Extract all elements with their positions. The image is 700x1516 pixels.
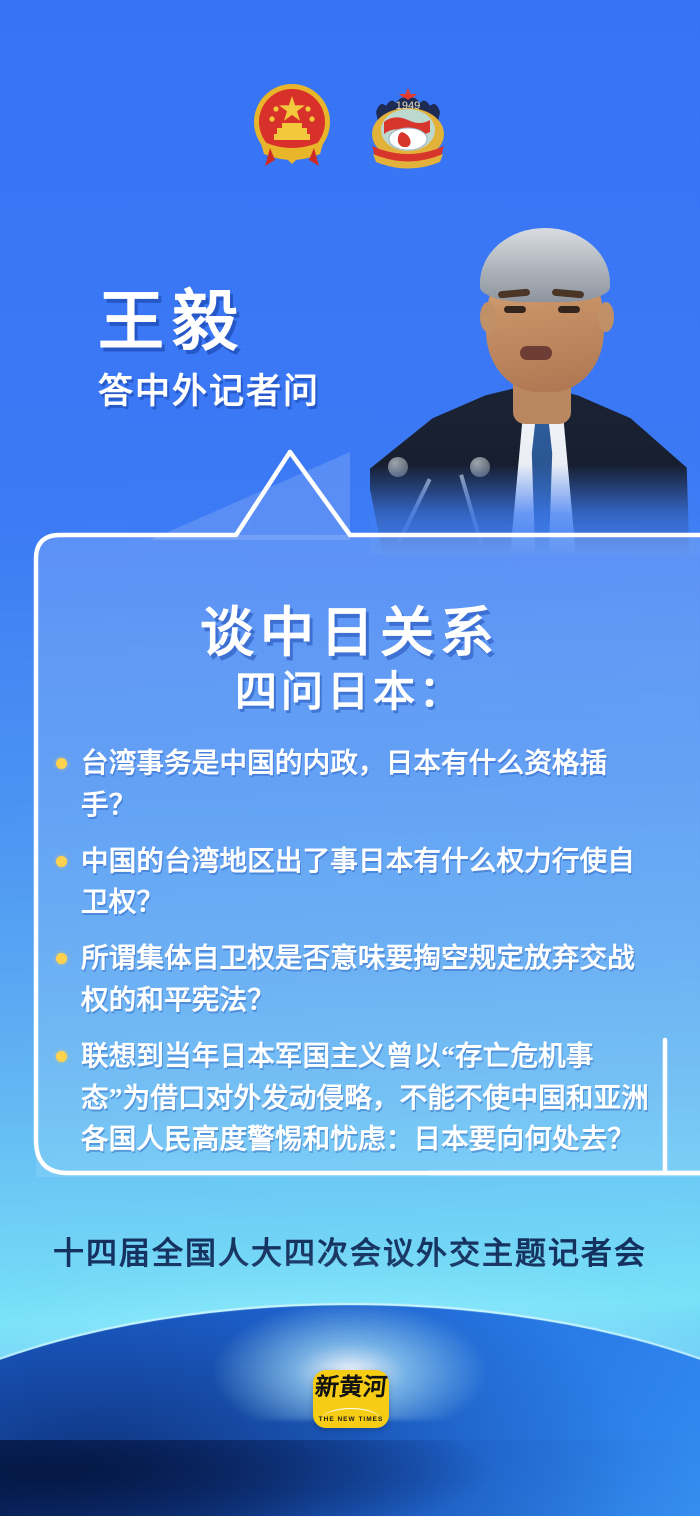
bullet-text: 所谓集体自卫权是否意味要掏空规定放弃交战权的和平宪法？ [81,937,656,1021]
headline-block: 王毅 答中外记者问 [98,288,398,414]
national-emblem-of-china-icon [246,78,338,170]
brand-logo[interactable]: 新黄河 THE NEW TIMES [313,1370,389,1428]
bullet-text: 中国的台湾地区出了事日本有什么权力行使自卫权？ [81,840,656,924]
portrait-eye-left [504,306,526,313]
bullet-dot-icon [56,758,67,769]
brand-logo-chinese: 新黄河 [314,1376,389,1400]
bullet-dot-icon [56,953,67,964]
list-item: 台湾事务是中国的内政，日本有什么资格插手？ [56,742,656,826]
emblem-row: 1949 [0,78,700,170]
portrait-ear-right [598,302,614,332]
portrait-mouth [520,346,552,360]
poster-root: 1949 王毅 答中外记者问 谈中日关系 四问日本： 台湾事务是中国的内政，日本… [0,0,700,1516]
speaker-name: 王毅 [98,288,398,357]
bullet-text: 台湾事务是中国的内政，日本有什么资格插手？ [81,742,656,826]
bottom-shadow [0,1440,700,1516]
footer-caption: 十四届全国人大四次会议外交主题记者会 [0,1228,700,1273]
portrait-eye-right [558,306,580,313]
speaker-subtitle: 答中外记者问 [98,363,398,414]
svg-text:1949: 1949 [396,100,420,112]
panel-subtitle: 四问日本： [0,658,700,719]
bullet-list: 台湾事务是中国的内政，日本有什么资格插手？ 中国的台湾地区出了事日本有什么权力行… [56,742,656,1174]
bullet-dot-icon [56,856,67,867]
brand-logo-english: THE NEW TIMES [313,1416,389,1423]
bullet-dot-icon [56,1051,67,1062]
list-item: 联想到当年日本军国主义曾以“存亡危机事态”为借口对外发动侵略，不能不使中国和亚洲… [56,1035,656,1160]
list-item: 中国的台湾地区出了事日本有什么权力行使自卫权？ [56,840,656,924]
panel-title: 谈中日关系 [0,588,700,667]
bullet-text: 联想到当年日本军国主义曾以“存亡危机事态”为借口对外发动侵略，不能不使中国和亚洲… [81,1035,656,1160]
portrait-ear-left [480,302,496,332]
cppcc-emblem-icon: 1949 [362,78,454,170]
list-item: 所谓集体自卫权是否意味要掏空规定放弃交战权的和平宪法？ [56,937,656,1021]
